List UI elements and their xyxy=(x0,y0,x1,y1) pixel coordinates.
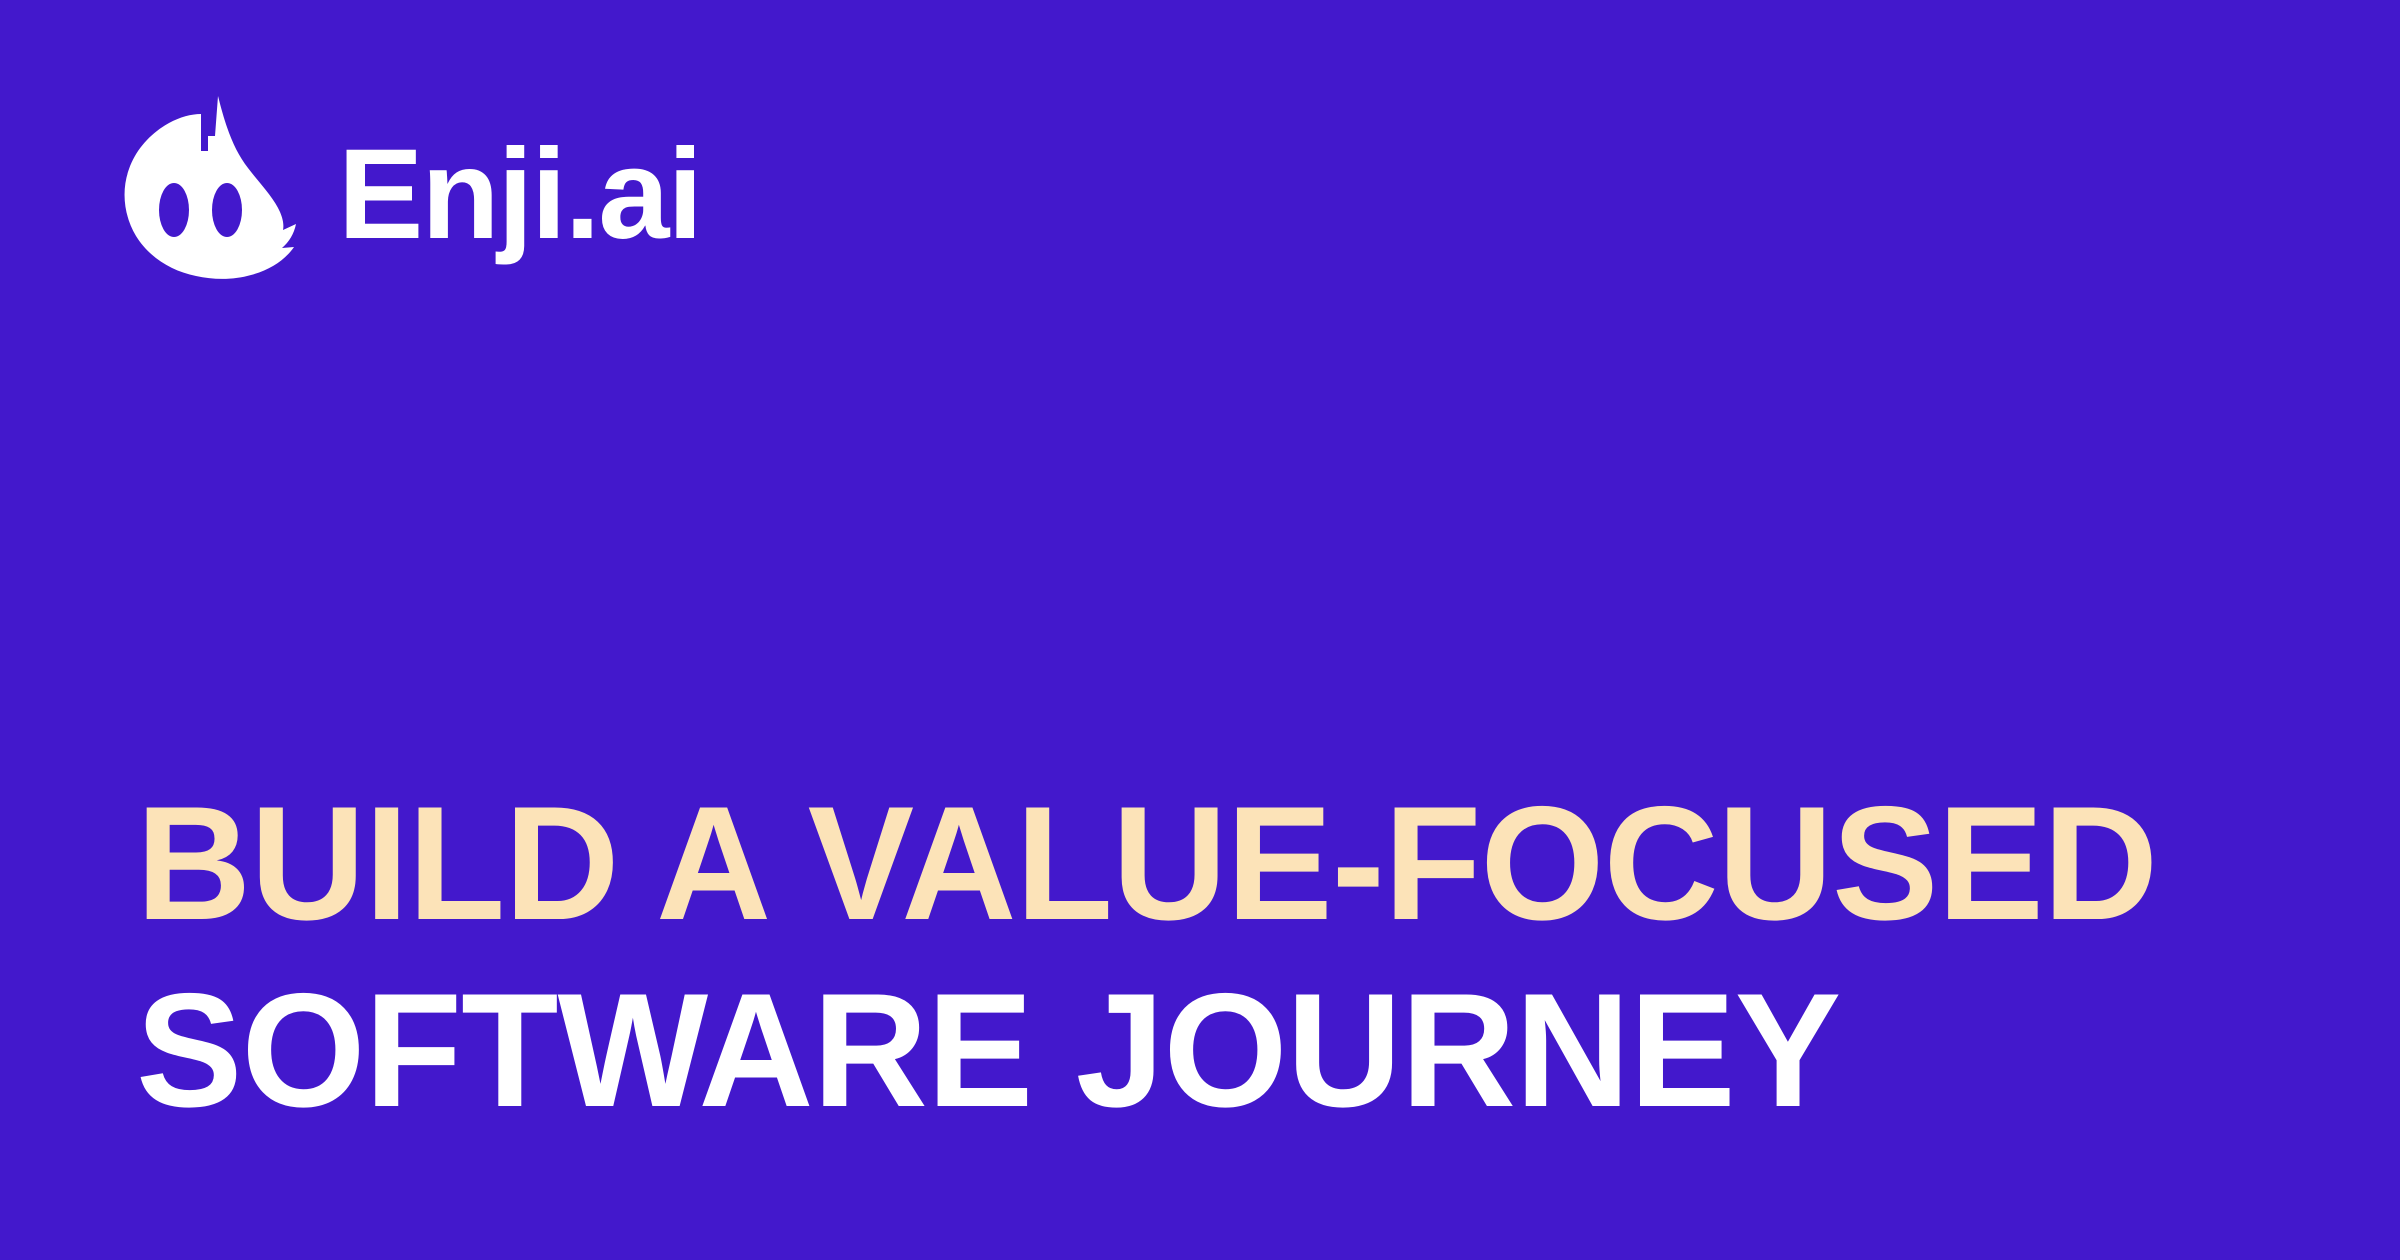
brand-wordmark: Enji.ai xyxy=(338,131,701,259)
enji-flame-mark-icon xyxy=(122,94,304,280)
headline-line-2: SOFTWARE JOURNEY xyxy=(136,957,2264,1144)
promo-banner: Enji.ai BUILD A VALUE-FOCUSED SOFTWARE J… xyxy=(0,0,2400,1260)
headline: BUILD A VALUE-FOCUSED SOFTWARE JOURNEY xyxy=(136,770,2296,1144)
brand-lockup[interactable]: Enji.ai xyxy=(122,92,701,282)
headline-line-1: BUILD A VALUE-FOCUSED xyxy=(136,770,2264,957)
